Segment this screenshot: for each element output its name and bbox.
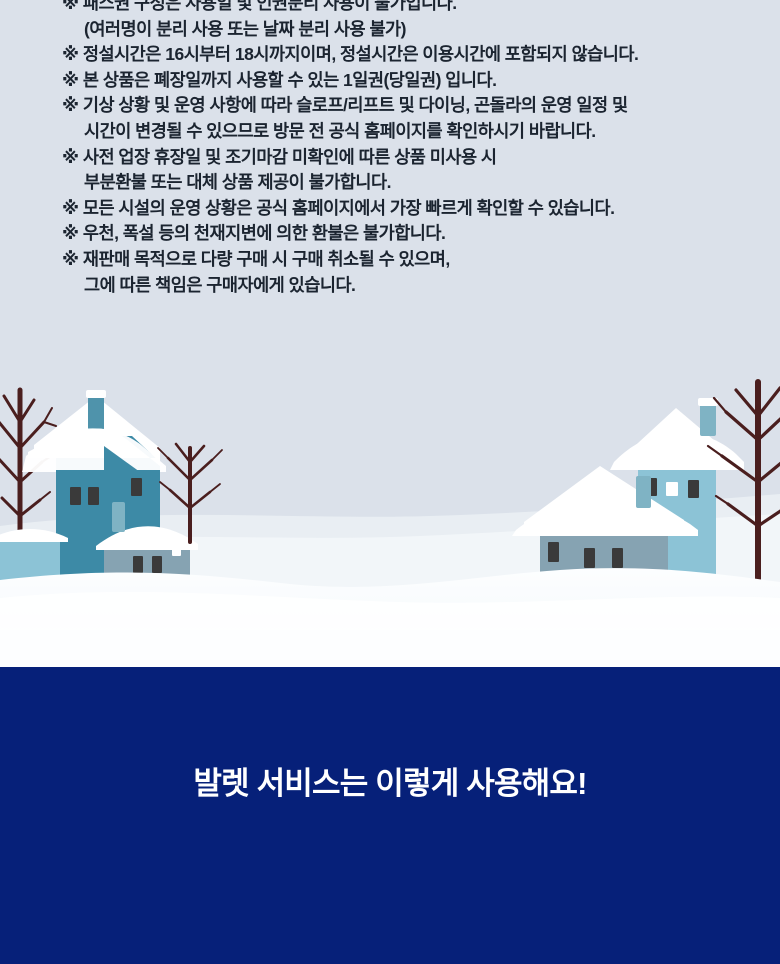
winter-village-illustration (0, 330, 780, 667)
valet-service-banner: 발렛 서비스는 이렇게 사용해요! 350 스마트인피니_발송 (0, 667, 780, 964)
notice-line: 부분환불 또는 대체 상품 제공이 불가합니다. (62, 170, 750, 196)
notice-section: ※ 패스권 구성은 사용일 및 인권분리 사용이 불가입니다. (여러명이 분리… (0, 0, 780, 667)
notice-line: ※ 우천, 폭설 등의 천재지변에 의한 환불은 불가합니다. (62, 221, 750, 247)
notice-line: 그에 따른 책임은 구매자에게 있습니다. (62, 273, 750, 299)
notice-line: (여러명이 분리 사용 또는 날짜 분리 사용 불가) (62, 17, 750, 43)
notice-line: ※ 모든 시설의 운영 상황은 공식 홈페이지에서 가장 빠르게 확인할 수 있… (62, 196, 750, 222)
notice-line: ※ 사전 업장 휴장일 및 조기마감 미확인에 따른 상품 미사용 시 (62, 145, 750, 171)
product-detail-page: ※ 패스권 구성은 사용일 및 인권분리 사용이 불가입니다. (여러명이 분리… (0, 0, 780, 964)
notice-list: ※ 패스권 구성은 사용일 및 인권분리 사용이 불가입니다. (여러명이 분리… (0, 0, 780, 298)
banner-title: 발렛 서비스는 이렇게 사용해요! (0, 758, 780, 803)
notice-line: 시간이 변경될 수 있으므로 방문 전 공식 홈페이지를 확인하시기 바랍니다. (62, 119, 750, 145)
notice-line: ※ 재판매 목적으로 다량 구매 시 구매 취소될 수 있으며, (62, 247, 750, 273)
notice-line: ※ 패스권 구성은 사용일 및 인권분리 사용이 불가입니다. (62, 0, 750, 17)
notice-line: ※ 정설시간은 16시부터 18시까지이며, 정설시간은 이용시간에 포함되지 … (62, 42, 750, 68)
notice-line: ※ 기상 상황 및 운영 사항에 따라 슬로프/리프트 및 다이닝, 곤돌라의 … (62, 93, 750, 119)
notice-line: ※ 본 상품은 폐장일까지 사용할 수 있는 1일권(당일권) 입니다. (62, 68, 750, 94)
